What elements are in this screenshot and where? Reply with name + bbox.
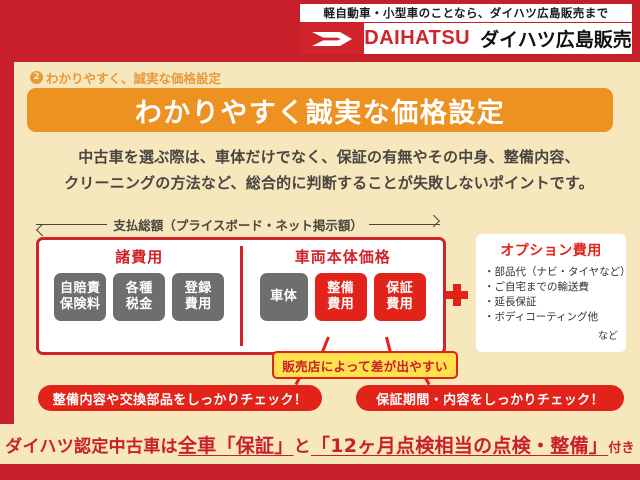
check-warranty-label: 保証期間・内容をしっかりチェック！ xyxy=(376,389,604,408)
footer-banner: ダイハツ認定中古車は全車「保証」と「12ヶ月点検相当の点検・整備」付き xyxy=(0,424,640,464)
group-vehicle-price-title: 車両本体価格 xyxy=(243,246,444,267)
page-title: わかりやすく誠実な価格設定 xyxy=(135,91,506,130)
logo-japanese-text: ダイハツ広島販売 xyxy=(480,25,632,52)
group-misc-fees: 諸費用 自賠責 保険料 各種 税金 登録 費用 xyxy=(39,240,240,352)
lead-paragraph: 中古車を選ぶ際は、車体だけでなく、保証の有無やその中身、整備内容、 クリーニング… xyxy=(40,144,618,196)
lead-line-2: クリーニングの方法など、総合的に判断することが失敗しないポイントです。 xyxy=(40,170,618,196)
footer-text: ダイハツ認定中古車は全車「保証」と「12ヶ月点検相当の点検・整備」付き xyxy=(5,431,635,458)
chip-line-1: 登録 xyxy=(185,281,212,297)
group-misc-fees-title: 諸費用 xyxy=(39,246,240,267)
option-fees-note: など xyxy=(484,327,618,342)
chip-line-2: 費用 xyxy=(327,297,354,313)
callout-label: 販売店によって差が出やすい xyxy=(282,356,447,375)
logo-wordmark: DAIHATSU ダイハツ広島販売 xyxy=(364,23,632,54)
section-kicker: 2 わかりやすく、誠実な価格設定 xyxy=(30,68,221,87)
section-kicker-label: わかりやすく、誠実な価格設定 xyxy=(46,68,221,87)
list-item: ・延長保証 xyxy=(484,295,618,310)
plus-icon xyxy=(446,284,468,306)
section-title-banner: わかりやすく誠実な価格設定 xyxy=(27,88,613,132)
footer-text-3: 付き xyxy=(608,441,635,456)
scale-arrow-right xyxy=(369,224,440,225)
chip-maintenance-fee: 整備 費用 xyxy=(315,273,367,321)
chip-line-1: 車体 xyxy=(270,289,297,305)
option-fees-panel: オプション費用 ・部品代（ナビ・タイヤなど） ・ご自宅までの輸送費 ・延長保証 … xyxy=(476,234,626,352)
footer-red-strip xyxy=(0,464,640,480)
check-warranty-pill: 保証期間・内容をしっかりチェック！ xyxy=(356,385,624,411)
chip-vehicle-body: 車体 xyxy=(260,273,308,321)
chip-warranty-fee: 保証 費用 xyxy=(374,273,426,321)
logo-row: DAIHATSU ダイハツ広島販売 xyxy=(300,23,632,54)
scale-label: 支払総額（プライスボード・ネット掲示額） xyxy=(113,215,363,234)
chip-line-1: 保証 xyxy=(386,281,413,297)
check-maintenance-label: 整備内容や交換部品をしっかりチェック！ xyxy=(53,389,308,408)
chip-line-2: 保険料 xyxy=(60,297,101,313)
content-panel: 2 わかりやすく、誠実な価格設定 わかりやすく誠実な価格設定 中古車を選ぶ際は、… xyxy=(14,62,640,424)
list-item: ・部品代（ナビ・タイヤなど） xyxy=(484,265,618,280)
total-price-scale: 支払総額（プライスボード・ネット掲示額） xyxy=(36,214,440,234)
footer-emphasis-2: 「12ヶ月点検相当の点検・整備」 xyxy=(311,435,608,457)
scale-arrow-left xyxy=(36,224,107,225)
chip-registration-fee: 登録 費用 xyxy=(172,273,224,321)
footer-text-2: と xyxy=(294,437,311,457)
chip-line-2: 税金 xyxy=(126,297,153,313)
chip-line-1: 整備 xyxy=(327,281,354,297)
daihatsu-d-mark-icon xyxy=(300,23,364,54)
footer-text-1: ダイハツ認定中古車は xyxy=(5,437,178,457)
option-fees-title: オプション費用 xyxy=(484,240,618,260)
option-fees-list: ・部品代（ナビ・タイヤなど） ・ご自宅までの輸送費 ・延長保証 ・ボディコーティ… xyxy=(484,265,618,325)
chip-line-2: 費用 xyxy=(185,297,212,313)
page-header: 軽自動車・小型車のことなら、ダイハツ広島販売まで DAIHATSU ダイハツ広島… xyxy=(0,0,640,62)
group-vehicle-price: 車両本体価格 車体 整備 費用 保証 費用 xyxy=(243,240,444,352)
infographic-page: 軽自動車・小型車のことなら、ダイハツ広島販売まで DAIHATSU ダイハツ広島… xyxy=(0,0,640,480)
list-item: ・ボディコーティング他 xyxy=(484,310,618,325)
chip-compulsory-insurance: 自賠責 保険料 xyxy=(54,273,106,321)
header-tagline: 軽自動車・小型車のことなら、ダイハツ広島販売まで xyxy=(300,4,632,22)
chip-taxes: 各種 税金 xyxy=(113,273,165,321)
brand-logo-block: 軽自動車・小型車のことなら、ダイハツ広島販売まで DAIHATSU ダイハツ広島… xyxy=(300,4,632,54)
footer-emphasis-1: 全車「保証」 xyxy=(178,435,294,457)
check-maintenance-pill: 整備内容や交換部品をしっかりチェック！ xyxy=(38,385,322,411)
group-misc-fees-chips: 自賠責 保険料 各種 税金 登録 費用 xyxy=(39,273,240,321)
logo-latin-text: DAIHATSU xyxy=(364,27,470,50)
list-item: ・ご自宅までの輸送費 xyxy=(484,280,618,295)
lead-line-1: 中古車を選ぶ際は、車体だけでなく、保証の有無やその中身、整備内容、 xyxy=(40,144,618,170)
chip-line-2: 費用 xyxy=(386,297,413,313)
chip-line-1: 自賠責 xyxy=(60,281,101,297)
section-number-badge: 2 xyxy=(30,71,43,84)
group-vehicle-price-chips: 車体 整備 費用 保証 費用 xyxy=(243,273,444,321)
dealer-difference-callout: 販売店によって差が出やすい xyxy=(272,351,458,379)
chip-line-1: 各種 xyxy=(126,281,153,297)
